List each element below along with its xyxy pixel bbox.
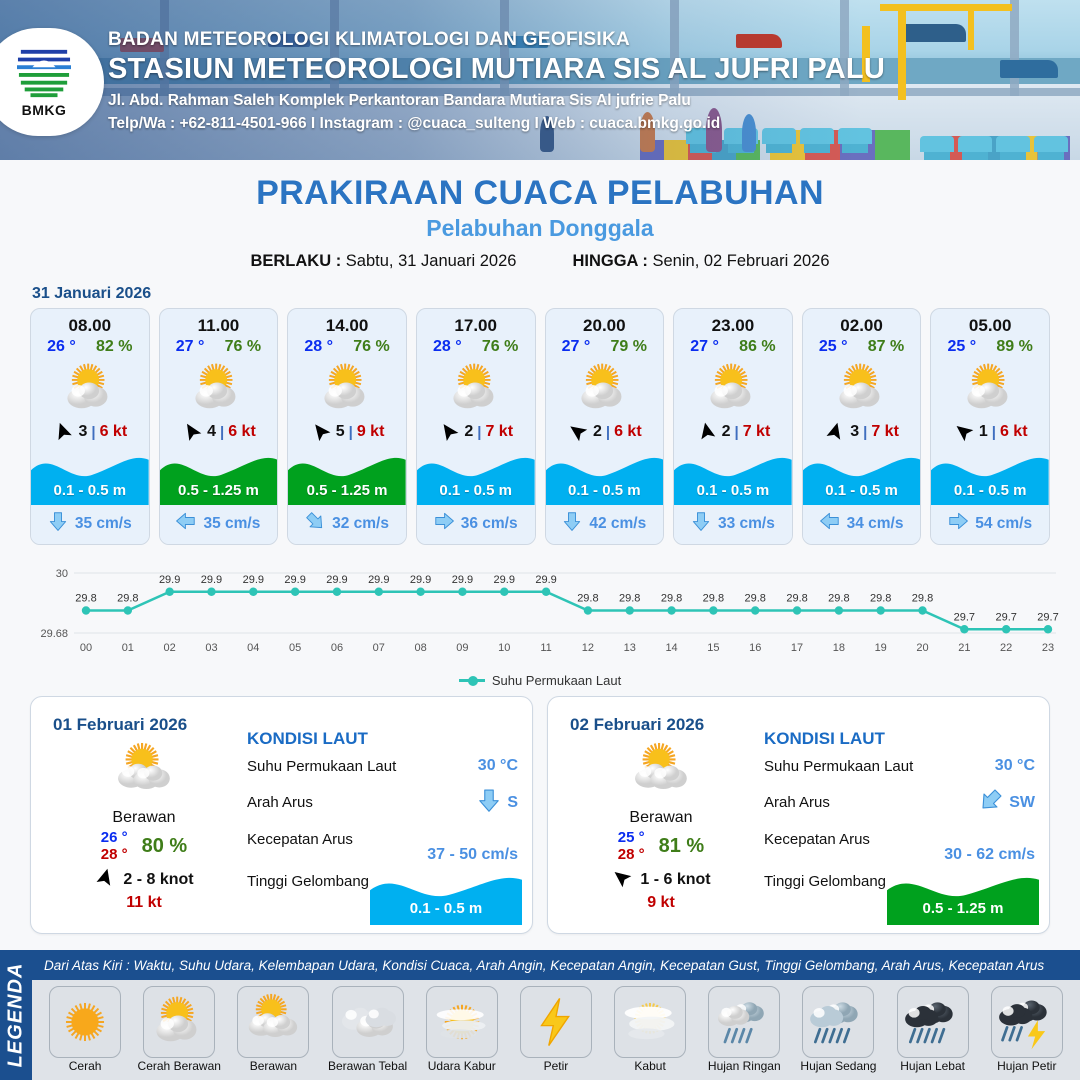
legend-item-label: Kabut <box>608 1059 692 1073</box>
wind-direction-arrow-icon <box>611 869 633 892</box>
card-time: 14.00 <box>288 309 406 338</box>
daily-wave-height: 0.1 - 0.5 m <box>370 900 522 917</box>
sea-conditions-title: KONDISI LAUT <box>764 729 1035 749</box>
current-direction-arrow-icon <box>176 511 196 536</box>
berawan-tebal-icon <box>332 986 404 1058</box>
card-temperature: 27 ° <box>690 338 719 356</box>
card-temperature: 27 ° <box>176 338 205 356</box>
card-wind-separator: | <box>91 424 95 441</box>
svg-text:29.8: 29.8 <box>75 593 96 605</box>
chart-legend-label: Suhu Permukaan Laut <box>492 673 621 688</box>
legend-section: LEGENDA Dari Atas Kiri : Waktu, Suhu Uda… <box>0 950 1080 1080</box>
svg-text:14: 14 <box>665 642 677 654</box>
svg-text:29.9: 29.9 <box>201 574 222 586</box>
agency-name: BADAN METEOROLOGI KLIMATOLOGI DAN GEOFIS… <box>108 28 885 52</box>
card-current-speed: 42 cm/s <box>589 515 646 533</box>
card-wave-block: 0.5 - 1.25 m <box>288 447 406 505</box>
card-wave-height: 0.1 - 0.5 m <box>417 482 535 499</box>
daily-forecast-card: 01 Februari 2026 Berawan 26 ° 28 ° 80 % … <box>30 696 533 934</box>
card-gust-speed: 6 kt <box>228 423 256 441</box>
card-wind-separator: | <box>992 424 996 441</box>
daily-condition: Berawan <box>49 809 239 827</box>
legend-item-label: Hujan Sedang <box>796 1059 880 1073</box>
legend-items-row: Cerah Cerah Berawan Berawan <box>32 980 1080 1080</box>
card-wave-height: 0.1 - 0.5 m <box>803 482 921 499</box>
hujan-lebat-icon <box>897 986 969 1058</box>
berawan-icon <box>566 741 756 805</box>
current-direction-arrow-icon <box>434 511 454 536</box>
card-current-speed: 36 cm/s <box>461 515 518 533</box>
hourly-card: 23.00 27 ° 86 % 2 | 7 kt 0.1 - 0.5 m 33 … <box>673 308 793 545</box>
svg-text:20: 20 <box>916 642 928 654</box>
card-humidity: 76 % <box>353 338 389 356</box>
daily-humidity: 81 % <box>659 835 705 858</box>
hourly-card: 08.00 26 ° 82 % 3 | 6 kt 0.1 - 0.5 m 35 … <box>30 308 150 545</box>
svg-text:29.9: 29.9 <box>452 574 473 586</box>
card-current-row: 35 cm/s <box>31 505 149 544</box>
svg-text:19: 19 <box>875 642 887 654</box>
svg-text:29.9: 29.9 <box>494 574 515 586</box>
wave-height-label: Tinggi Gelombang <box>247 873 369 890</box>
station-address: Jl. Abd. Rahman Saleh Komplek Perkantora… <box>108 89 885 112</box>
bmkg-logo-text: BMKG <box>22 102 67 118</box>
legend-note: Dari Atas Kiri : Waktu, Suhu Udara, Kele… <box>32 950 1080 980</box>
legend-item: Hujan Sedang <box>796 986 880 1073</box>
card-gust-speed: 7 kt <box>743 423 771 441</box>
daily-wind-range: 2 - 8 knot <box>123 871 193 889</box>
card-current-row: 33 cm/s <box>674 505 792 544</box>
validity-from: BERLAKU : Sabtu, 31 Januari 2026 <box>250 252 516 271</box>
current-direction-value: SW <box>1009 794 1035 812</box>
svg-text:29.8: 29.8 <box>661 593 682 605</box>
legend-item: Cerah <box>43 986 127 1073</box>
card-wind-value: 2 <box>722 423 731 441</box>
legend-item: Petir <box>514 986 598 1073</box>
current-direction-arrow-icon <box>477 788 501 817</box>
card-wind-row: 2 | 7 kt <box>417 420 535 447</box>
card-gust-speed: 6 kt <box>100 423 128 441</box>
current-direction-arrow-icon <box>48 511 68 536</box>
card-wave-height: 0.1 - 0.5 m <box>931 482 1049 499</box>
svg-text:29.8: 29.8 <box>619 593 640 605</box>
udara-kabur-icon <box>426 986 498 1058</box>
hujan-petir-icon <box>991 986 1063 1058</box>
card-current-row: 34 cm/s <box>803 505 921 544</box>
svg-text:22: 22 <box>1000 642 1012 654</box>
hourly-card: 14.00 28 ° 76 % 5 | 9 kt 0.5 - 1.25 m 32… <box>287 308 407 545</box>
svg-text:15: 15 <box>707 642 719 654</box>
berawan-icon <box>237 986 309 1058</box>
cerah-berawan-icon <box>31 358 149 420</box>
hingga-value: Senin, 02 Februari 2026 <box>653 252 830 270</box>
svg-text:06: 06 <box>331 642 343 654</box>
svg-text:29.9: 29.9 <box>159 574 180 586</box>
current-speed-label: Kecepatan Arus <box>247 831 353 848</box>
berlaku-value: Sabtu, 31 Januari 2026 <box>346 252 517 270</box>
daily-temp-min: 25 ° <box>618 830 645 847</box>
card-humidity: 82 % <box>96 338 132 356</box>
svg-text:29.7: 29.7 <box>954 611 975 623</box>
card-wind-value: 3 <box>850 423 859 441</box>
svg-text:07: 07 <box>373 642 385 654</box>
sst-chart: 3029.6829.80029.80129.90229.90329.90429.… <box>18 559 1062 671</box>
card-humidity: 79 % <box>611 338 647 356</box>
wind-direction-arrow-icon <box>567 423 589 441</box>
card-humidity: 86 % <box>739 338 775 356</box>
card-time: 05.00 <box>931 309 1049 338</box>
card-wave-height: 0.5 - 1.25 m <box>160 482 278 499</box>
card-time: 08.00 <box>31 309 149 338</box>
daily-gust: 9 kt <box>566 894 756 912</box>
svg-text:13: 13 <box>624 642 636 654</box>
card-wave-height: 0.1 - 0.5 m <box>31 482 149 499</box>
svg-text:03: 03 <box>205 642 217 654</box>
current-direction-arrow-icon <box>691 511 711 536</box>
card-wind-row: 4 | 6 kt <box>160 420 278 447</box>
card-current-row: 54 cm/s <box>931 505 1049 544</box>
daily-date: 01 Februari 2026 <box>53 715 187 735</box>
svg-text:29.9: 29.9 <box>243 574 264 586</box>
svg-text:29.7: 29.7 <box>1037 611 1058 623</box>
legend-item-label: Udara Kabur <box>420 1059 504 1073</box>
card-wind-row: 3 | 6 kt <box>31 420 149 447</box>
svg-text:21: 21 <box>958 642 970 654</box>
current-direction-value: S <box>507 794 518 812</box>
svg-text:29.9: 29.9 <box>368 574 389 586</box>
svg-text:02: 02 <box>164 642 176 654</box>
card-gust-speed: 7 kt <box>485 423 513 441</box>
svg-text:29.8: 29.8 <box>703 593 724 605</box>
legend-item: Berawan <box>231 986 315 1073</box>
card-wave-block: 0.1 - 0.5 m <box>931 447 1049 505</box>
svg-text:29.9: 29.9 <box>535 574 556 586</box>
cerah-berawan-icon <box>288 358 406 420</box>
daily-humidity: 80 % <box>142 835 188 858</box>
page-header: BMKG BADAN METEOROLOGI KLIMATOLOGI DAN G… <box>0 0 1080 160</box>
legend-item-label: Cerah <box>43 1059 127 1073</box>
card-wind-value: 4 <box>207 423 216 441</box>
cerah-berawan-icon <box>803 358 921 420</box>
svg-text:17: 17 <box>791 642 803 654</box>
current-direction-arrow-icon <box>820 511 840 536</box>
header-text-block: BADAN METEOROLOGI KLIMATOLOGI DAN GEOFIS… <box>108 28 885 136</box>
card-temperature: 28 ° <box>433 338 462 356</box>
legend-item-label: Berawan <box>231 1059 315 1073</box>
card-current-row: 42 cm/s <box>546 505 664 544</box>
card-wind-separator: | <box>477 424 481 441</box>
chart-legend-marker <box>459 679 485 682</box>
card-current-row: 36 cm/s <box>417 505 535 544</box>
daily-left-block: Berawan 25 ° 28 ° 81 % 1 - 6 knot 9 kt <box>566 741 756 912</box>
sst-chart-svg: 3029.6829.80029.80129.90229.90329.90429.… <box>18 559 1062 659</box>
hourly-card: 05.00 25 ° 89 % 1 | 6 kt 0.1 - 0.5 m 54 … <box>930 308 1050 545</box>
card-gust-speed: 6 kt <box>614 423 642 441</box>
svg-text:01: 01 <box>122 642 134 654</box>
card-temperature: 27 ° <box>562 338 591 356</box>
sea-conditions-title: KONDISI LAUT <box>247 729 518 749</box>
svg-text:29.68: 29.68 <box>40 628 68 640</box>
card-current-speed: 34 cm/s <box>847 515 904 533</box>
daily-temp-max: 28 ° <box>101 847 128 864</box>
current-speed-value: 37 - 50 cm/s <box>247 846 518 864</box>
validity-to: HINGGA : Senin, 02 Februari 2026 <box>572 252 829 271</box>
card-current-row: 32 cm/s <box>288 505 406 544</box>
wind-direction-arrow-icon <box>953 423 975 441</box>
card-wave-height: 0.1 - 0.5 m <box>546 482 664 499</box>
card-gust-speed: 6 kt <box>1000 423 1028 441</box>
cerah-berawan-icon <box>160 358 278 420</box>
hourly-card: 11.00 27 ° 76 % 4 | 6 kt 0.5 - 1.25 m 35… <box>159 308 279 545</box>
station-contact: Telp/Wa : +62-811-4501-966 I Instagram :… <box>108 112 885 135</box>
svg-text:29.8: 29.8 <box>577 593 598 605</box>
card-wind-row: 3 | 7 kt <box>803 420 921 447</box>
current-direction-arrow-icon <box>562 511 582 536</box>
berlaku-label: BERLAKU : <box>250 252 341 270</box>
legend-item-label: Cerah Berawan <box>137 1059 221 1073</box>
svg-text:09: 09 <box>456 642 468 654</box>
hujan-ringan-icon <box>708 986 780 1058</box>
validity-row: BERLAKU : Sabtu, 31 Januari 2026 HINGGA … <box>0 252 1080 271</box>
card-wind-separator: | <box>220 424 224 441</box>
card-current-speed: 32 cm/s <box>332 515 389 533</box>
kabut-icon <box>614 986 686 1058</box>
card-wind-value: 2 <box>593 423 602 441</box>
svg-text:29.8: 29.8 <box>117 593 138 605</box>
berawan-icon <box>49 741 239 805</box>
page-subtitle: Pelabuhan Donggala <box>0 215 1080 242</box>
card-temperature: 25 ° <box>819 338 848 356</box>
svg-text:12: 12 <box>582 642 594 654</box>
card-current-speed: 35 cm/s <box>75 515 132 533</box>
svg-text:29.8: 29.8 <box>912 593 933 605</box>
card-wave-block: 0.5 - 1.25 m <box>160 447 278 505</box>
card-humidity: 76 % <box>482 338 518 356</box>
daily-temp-max: 28 ° <box>618 847 645 864</box>
cerah-berawan-icon <box>931 358 1049 420</box>
svg-text:18: 18 <box>833 642 845 654</box>
card-wind-row: 1 | 6 kt <box>931 420 1049 447</box>
card-wind-value: 5 <box>336 423 345 441</box>
daily-wave-block: 0.5 - 1.25 m <box>887 865 1039 925</box>
cerah-berawan-icon <box>143 986 215 1058</box>
cerah-berawan-icon <box>417 358 535 420</box>
sst-value: 30 °C <box>478 757 518 775</box>
card-humidity: 76 % <box>225 338 261 356</box>
wind-direction-arrow-icon <box>438 423 460 441</box>
svg-text:11: 11 <box>540 642 551 654</box>
card-wave-height: 0.1 - 0.5 m <box>674 482 792 499</box>
svg-text:29.8: 29.8 <box>786 593 807 605</box>
card-wind-row: 2 | 7 kt <box>674 420 792 447</box>
daily-wind-row: 2 - 8 knot <box>49 869 239 892</box>
wind-direction-arrow-icon <box>181 423 203 441</box>
svg-text:29.7: 29.7 <box>995 611 1016 623</box>
daily-wave-height: 0.5 - 1.25 m <box>887 900 1039 917</box>
daily-date: 02 Februari 2026 <box>570 715 704 735</box>
card-wave-block: 0.1 - 0.5 m <box>674 447 792 505</box>
daily-forecast-card: 02 Februari 2026 Berawan 25 ° 28 ° 81 % … <box>547 696 1050 934</box>
current-direction-label: Arah Arus <box>247 794 313 811</box>
card-current-speed: 33 cm/s <box>718 515 775 533</box>
svg-text:00: 00 <box>80 642 92 654</box>
legend-item: Kabut <box>608 986 692 1073</box>
sst-value: 30 °C <box>995 757 1035 775</box>
card-time: 17.00 <box>417 309 535 338</box>
svg-text:29.9: 29.9 <box>284 574 305 586</box>
hingga-label: HINGGA : <box>572 252 647 270</box>
current-speed-value: 30 - 62 cm/s <box>764 846 1035 864</box>
card-time: 11.00 <box>160 309 278 338</box>
svg-text:29.8: 29.8 <box>828 593 849 605</box>
card-temperature: 26 ° <box>47 338 76 356</box>
legend-item: Berawan Tebal <box>326 986 410 1073</box>
svg-text:29.8: 29.8 <box>745 593 766 605</box>
bmkg-logo-mark <box>15 46 73 100</box>
daily-condition: Berawan <box>566 809 756 827</box>
svg-text:29.9: 29.9 <box>410 574 431 586</box>
current-speed-label: Kecepatan Arus <box>764 831 870 848</box>
legend-item: Hujan Ringan <box>702 986 786 1073</box>
current-direction-arrow-icon <box>979 788 1003 817</box>
legend-item: Hujan Petir <box>985 986 1069 1073</box>
wind-direction-arrow-icon <box>696 423 718 441</box>
card-wave-block: 0.1 - 0.5 m <box>803 447 921 505</box>
sst-label: Suhu Permukaan Laut <box>247 758 396 775</box>
card-wave-height: 0.5 - 1.25 m <box>288 482 406 499</box>
card-time: 20.00 <box>546 309 664 338</box>
card-wind-separator: | <box>735 424 739 441</box>
hourly-card: 20.00 27 ° 79 % 2 | 6 kt 0.1 - 0.5 m 42 … <box>545 308 665 545</box>
card-current-row: 35 cm/s <box>160 505 278 544</box>
wind-direction-arrow-icon <box>824 423 846 441</box>
hujan-sedang-icon <box>802 986 874 1058</box>
card-wave-block: 0.1 - 0.5 m <box>417 447 535 505</box>
sst-label: Suhu Permukaan Laut <box>764 758 913 775</box>
svg-text:29.8: 29.8 <box>870 593 891 605</box>
page-title: PRAKIRAAN CUACA PELABUHAN <box>0 174 1080 213</box>
daily-temp-min: 26 ° <box>101 830 128 847</box>
wind-direction-arrow-icon <box>52 423 74 441</box>
svg-text:29.9: 29.9 <box>326 574 347 586</box>
legend-item-label: Hujan Lebat <box>891 1059 975 1073</box>
legend-item-label: Hujan Ringan <box>702 1059 786 1073</box>
legend-item: Hujan Lebat <box>891 986 975 1073</box>
cerah-berawan-icon <box>546 358 664 420</box>
card-humidity: 87 % <box>868 338 904 356</box>
hourly-forecast-row: 08.00 26 ° 82 % 3 | 6 kt 0.1 - 0.5 m 35 … <box>0 308 1080 545</box>
card-time: 02.00 <box>803 309 921 338</box>
daily-wind-range: 1 - 6 knot <box>640 871 710 889</box>
cerah-icon <box>49 986 121 1058</box>
card-humidity: 89 % <box>996 338 1032 356</box>
card-temperature: 25 ° <box>948 338 977 356</box>
card-current-speed: 54 cm/s <box>975 515 1032 533</box>
daily-gust: 11 kt <box>49 894 239 912</box>
card-temperature: 28 ° <box>304 338 333 356</box>
legend-item-label: Berawan Tebal <box>326 1059 410 1073</box>
wind-direction-arrow-icon <box>310 423 332 441</box>
daily-forecast-row: 01 Februari 2026 Berawan 26 ° 28 ° 80 % … <box>0 688 1080 934</box>
svg-text:08: 08 <box>414 642 426 654</box>
card-wave-block: 0.1 - 0.5 m <box>31 447 149 505</box>
svg-text:10: 10 <box>498 642 510 654</box>
legend-item: Cerah Berawan <box>137 986 221 1073</box>
legend-side-title: LEGENDA <box>5 963 28 1068</box>
current-direction-label: Arah Arus <box>764 794 830 811</box>
legend-item: Udara Kabur <box>420 986 504 1073</box>
daily-wind-row: 1 - 6 knot <box>566 869 756 892</box>
card-wind-row: 2 | 6 kt <box>546 420 664 447</box>
svg-text:16: 16 <box>749 642 761 654</box>
chart-legend: Suhu Permukaan Laut <box>0 673 1080 688</box>
wind-direction-arrow-icon <box>94 869 116 892</box>
current-direction-arrow-icon <box>948 511 968 536</box>
card-wind-value: 3 <box>78 423 87 441</box>
svg-text:05: 05 <box>289 642 301 654</box>
current-direction-arrow-icon <box>305 511 325 536</box>
hourly-card: 02.00 25 ° 87 % 3 | 7 kt 0.1 - 0.5 m 34 … <box>802 308 922 545</box>
legend-item-label: Petir <box>514 1059 598 1073</box>
station-name: STASIUN METEOROLOGI MUTIARA SIS AL JUFRI… <box>108 53 885 86</box>
legend-side-bar: LEGENDA <box>0 950 32 1080</box>
card-time: 23.00 <box>674 309 792 338</box>
hourly-date-label: 31 Januari 2026 <box>32 285 1080 303</box>
card-wind-value: 2 <box>464 423 473 441</box>
card-current-speed: 35 cm/s <box>203 515 260 533</box>
svg-text:04: 04 <box>247 642 259 654</box>
card-wind-value: 1 <box>979 423 988 441</box>
card-wind-separator: | <box>863 424 867 441</box>
daily-wave-block: 0.1 - 0.5 m <box>370 865 522 925</box>
card-wind-row: 5 | 9 kt <box>288 420 406 447</box>
card-gust-speed: 7 kt <box>871 423 899 441</box>
card-wave-block: 0.1 - 0.5 m <box>546 447 664 505</box>
svg-text:23: 23 <box>1042 642 1054 654</box>
cerah-berawan-icon <box>674 358 792 420</box>
card-wind-separator: | <box>349 424 353 441</box>
legend-item-label: Hujan Petir <box>985 1059 1069 1073</box>
card-gust-speed: 9 kt <box>357 423 385 441</box>
wave-height-label: Tinggi Gelombang <box>764 873 886 890</box>
petir-icon <box>520 986 592 1058</box>
daily-left-block: Berawan 26 ° 28 ° 80 % 2 - 8 knot 11 kt <box>49 741 239 912</box>
card-wind-separator: | <box>606 424 610 441</box>
svg-text:30: 30 <box>56 568 68 580</box>
bmkg-logo: BMKG <box>0 28 104 136</box>
hourly-card: 17.00 28 ° 76 % 2 | 7 kt 0.1 - 0.5 m 36 … <box>416 308 536 545</box>
